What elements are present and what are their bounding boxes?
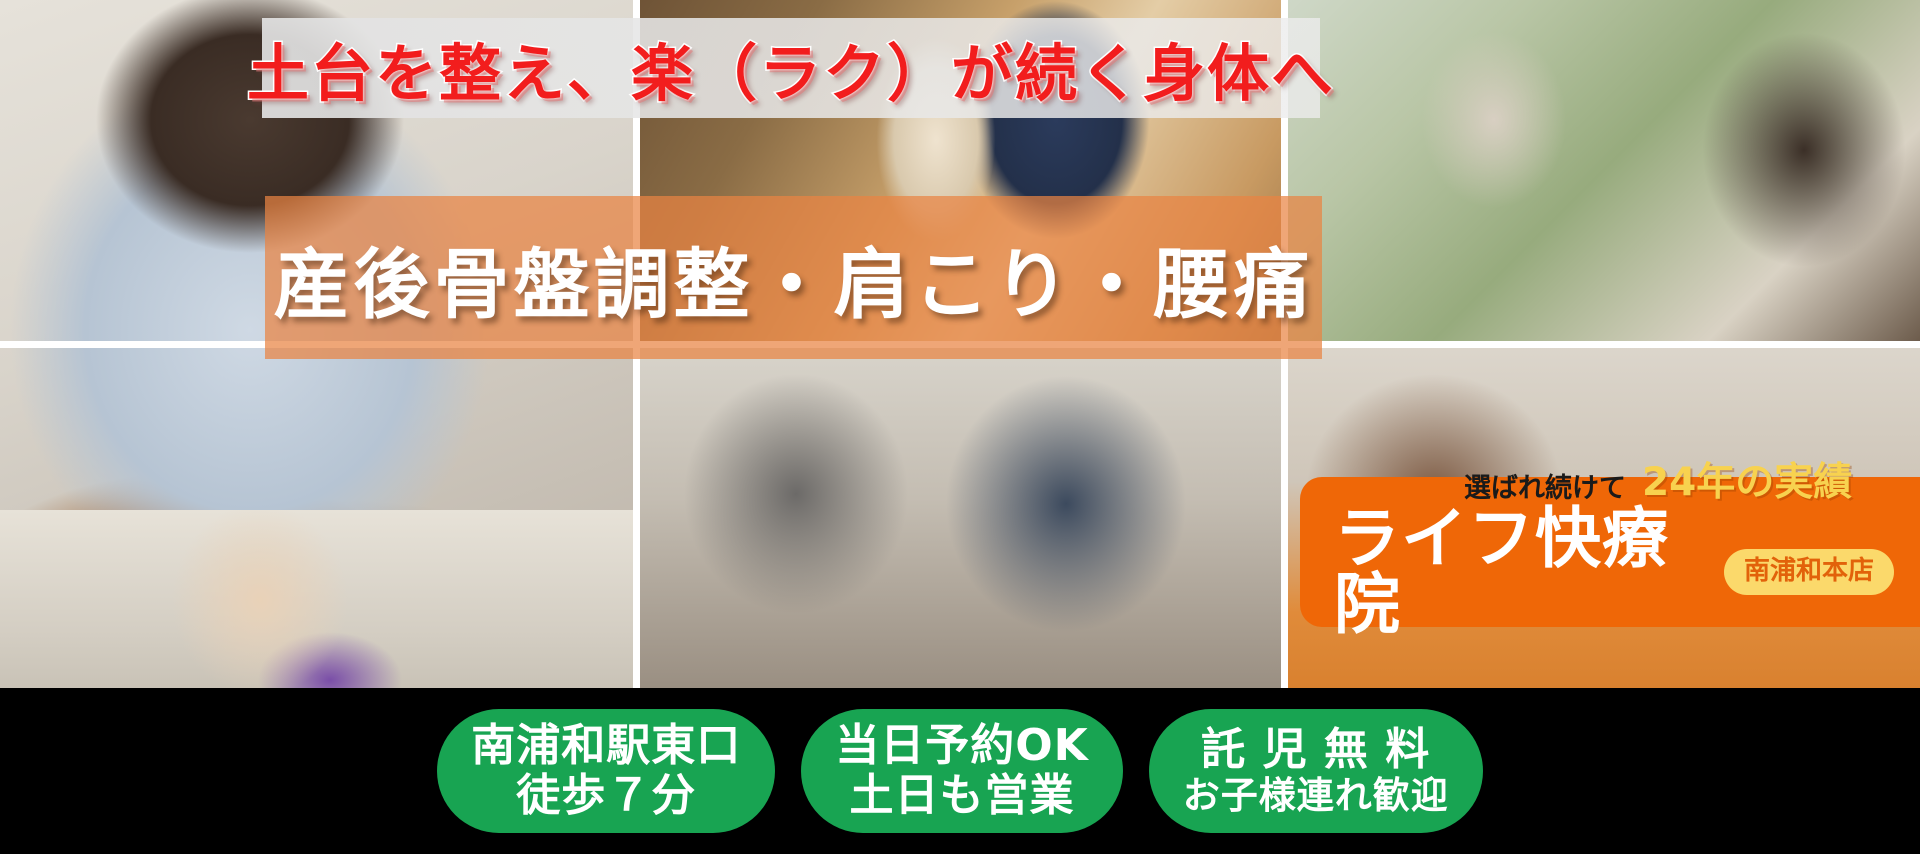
info-badge-station-line2: 徒歩７分 bbox=[471, 771, 741, 821]
hero-banner: 土台を整え、楽（ラク）が続く身体へ 産後骨盤調整・肩こり・腰痛 選ばれ続けて 2… bbox=[0, 0, 1920, 854]
headline-primary-text: 土台を整え、楽（ラク）が続く身体へ bbox=[247, 23, 1335, 113]
info-badge-childcare-line2: お子様連れ歓迎 bbox=[1183, 775, 1449, 817]
bottom-info-bar: 南浦和駅東口 徒歩７分 当日予約OK 土日も営業 託 児 無 料 お子様連れ歓迎 bbox=[0, 688, 1920, 854]
info-badge-booking-line1: 当日予約OK bbox=[835, 721, 1089, 771]
info-badge-childcare[interactable]: 託 児 無 料 お子様連れ歓迎 bbox=[1149, 709, 1483, 833]
photo-mothers-with-clinic-sign bbox=[636, 344, 1284, 688]
headline-band-primary: 土台を整え、楽（ラク）が続く身体へ bbox=[262, 18, 1320, 118]
branch-badge: 南浦和本店 bbox=[1724, 549, 1894, 595]
brand-tagline-row: 選ばれ続けて 24年の実績 bbox=[1334, 464, 1894, 501]
brand-tagline-prefix: 選ばれ続けて bbox=[1464, 475, 1626, 502]
info-badge-station-line1: 南浦和駅東口 bbox=[471, 721, 741, 771]
clinic-brand-card[interactable]: 選ばれ続けて 24年の実績 ライフ快療院 南浦和本店 bbox=[1300, 477, 1920, 627]
info-badge-childcare-line1: 託 児 無 料 bbox=[1183, 725, 1449, 775]
headline-band-secondary: 産後骨盤調整・肩こり・腰痛 bbox=[265, 196, 1322, 359]
info-badge-station[interactable]: 南浦和駅東口 徒歩７分 bbox=[437, 709, 775, 833]
photo-practitioner-with-tablet bbox=[1284, 0, 1920, 344]
brand-tagline-years: 24年の実績 bbox=[1642, 464, 1852, 501]
clinic-name: ライフ快療院 bbox=[1334, 506, 1706, 638]
info-badge-booking[interactable]: 当日予約OK 土日も営業 bbox=[801, 709, 1123, 833]
headline-secondary-text: 産後骨盤調整・肩こり・腰痛 bbox=[274, 223, 1314, 333]
info-badge-booking-line2: 土日も営業 bbox=[835, 771, 1089, 821]
brand-name-row: ライフ快療院 南浦和本店 bbox=[1334, 506, 1894, 638]
